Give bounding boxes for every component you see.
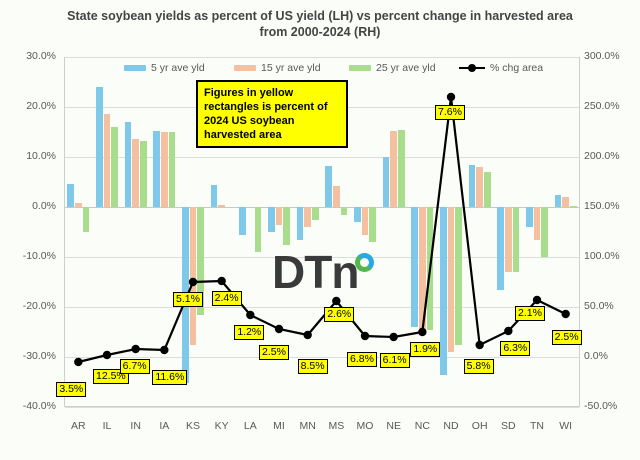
legend-swatch-icon [124, 65, 146, 71]
x-axis-tick-la: LA [236, 420, 265, 432]
bar-mn-series3 [312, 207, 319, 220]
bar-ia-series3 [169, 132, 176, 207]
y-axis-left-tick: 20.0% [0, 100, 56, 112]
bar-mi-series2 [276, 207, 283, 225]
bar-oh-series2 [476, 167, 483, 207]
bar-ia-series2 [161, 132, 168, 207]
bar-wi-series1 [555, 195, 562, 208]
bar-wi-series2 [562, 197, 569, 207]
data-label-wi: 2.5% [552, 330, 582, 345]
x-axis-tick-nd: ND [437, 420, 466, 432]
bar-ne-series2 [390, 131, 397, 207]
legend-line-marker-icon [459, 63, 485, 73]
data-label-nc: 1.9% [410, 342, 440, 357]
x-axis-tick-ia: IA [150, 420, 179, 432]
data-label-mn: 8.5% [298, 359, 328, 374]
bar-nc-series2 [419, 207, 426, 335]
data-label-la: 1.2% [234, 325, 264, 340]
y-axis-right-tick: 200.0% [584, 150, 640, 162]
bar-tn-series2 [534, 207, 541, 240]
legend-item-4[interactable]: % chg area [459, 62, 543, 74]
bar-mi-series1 [268, 207, 275, 232]
data-label-ms: 2.6% [324, 307, 354, 322]
y-axis-right-tick: 100.0% [584, 250, 640, 262]
data-label-ky: 2.4% [212, 291, 242, 306]
bar-ks-series2 [190, 207, 197, 345]
chart-legend: 5 yr ave yld15 yr ave yld25 yr ave yld% … [64, 58, 580, 80]
bar-ne-series3 [398, 130, 405, 208]
data-label-in: 6.7% [120, 359, 150, 374]
bar-il-series3 [111, 127, 118, 207]
bar-in-series3 [140, 141, 147, 207]
data-label-mo: 6.8% [347, 352, 377, 367]
bar-mn-series1 [297, 207, 304, 240]
bar-nd-series2 [448, 207, 455, 352]
bar-nc-series1 [411, 207, 418, 327]
bar-nc-series3 [427, 207, 434, 330]
chart-container: State soybean yields as percent of US yi… [0, 0, 640, 460]
gridline [65, 357, 579, 358]
gridline [65, 407, 579, 408]
data-label-ks: 5.1% [173, 292, 203, 307]
x-axis-tick-ks: KS [179, 420, 208, 432]
data-label-sd: 6.3% [500, 341, 530, 356]
bar-il-series2 [104, 114, 111, 208]
gridline [65, 307, 579, 308]
legend-item-2[interactable]: 15 yr ave yld [234, 62, 321, 74]
bar-ia-series1 [153, 131, 160, 207]
data-label-mi: 2.5% [259, 345, 289, 360]
legend-item-1[interactable]: 5 yr ave yld [124, 62, 205, 74]
x-axis-tick-il: IL [93, 420, 122, 432]
y-axis-left-tick: -10.0% [0, 250, 56, 262]
legend-dot [468, 64, 476, 72]
x-axis-tick-ne: NE [379, 420, 408, 432]
bar-ar-series2 [75, 203, 82, 208]
bar-nd-series1 [440, 207, 447, 375]
x-axis-tick-ky: KY [207, 420, 236, 432]
legend-swatch-icon [349, 65, 371, 71]
bar-oh-series1 [469, 165, 476, 208]
legend-label: 25 yr ave yld [376, 62, 436, 74]
y-axis-right-tick: 150.0% [584, 200, 640, 212]
bar-mo-series3 [369, 207, 376, 242]
legend-label: 15 yr ave yld [261, 62, 321, 74]
bar-ar-series1 [67, 184, 74, 208]
x-axis-tick-oh: OH [465, 420, 494, 432]
data-label-ne: 6.1% [380, 353, 410, 368]
bar-la-series3 [255, 207, 262, 252]
y-axis-right-tick: 300.0% [584, 50, 640, 62]
bar-ms-series3 [341, 207, 348, 215]
legend-label: % chg area [490, 62, 543, 74]
x-axis-tick-mo: MO [351, 420, 380, 432]
bar-ms-series1 [325, 166, 332, 208]
y-axis-left-tick: 30.0% [0, 50, 56, 62]
data-label-ia: 11.6% [152, 370, 187, 385]
chart-title: State soybean yields as percent of US yi… [60, 8, 580, 40]
y-axis-right-tick: 250.0% [584, 100, 640, 112]
data-label-oh: 5.8% [464, 359, 494, 374]
bar-mn-series2 [304, 207, 311, 227]
bar-in-series2 [132, 139, 139, 208]
y-axis-right-tick: 0.0% [584, 350, 640, 362]
y-axis-left-tick: -20.0% [0, 300, 56, 312]
x-axis-tick-mn: MN [293, 420, 322, 432]
bar-la-series1 [239, 207, 246, 235]
x-axis-tick-wi: WI [551, 420, 580, 432]
bar-sd-series2 [505, 207, 512, 272]
bar-tn-series1 [526, 207, 533, 227]
legend-swatch-icon [234, 65, 256, 71]
x-axis-tick-mi: MI [265, 420, 294, 432]
y-axis-left-tick: 0.0% [0, 200, 56, 212]
bar-nd-series3 [455, 207, 462, 345]
x-axis-tick-tn: TN [523, 420, 552, 432]
y-axis-left-tick: 10.0% [0, 150, 56, 162]
bar-tn-series3 [541, 207, 548, 257]
x-axis-tick-nc: NC [408, 420, 437, 432]
bar-mi-series3 [283, 207, 290, 245]
callout-note: Figures in yellow rectangles is percent … [196, 80, 348, 148]
legend-item-3[interactable]: 25 yr ave yld [349, 62, 436, 74]
legend-label: 5 yr ave yld [151, 62, 205, 74]
y-axis-right-tick: 50.0% [584, 300, 640, 312]
bar-mo-series1 [354, 207, 361, 222]
x-axis-tick-sd: SD [494, 420, 523, 432]
bar-ne-series1 [383, 157, 390, 207]
dtn-logo-ring-icon [355, 253, 374, 272]
data-label-nd: 7.6% [435, 105, 465, 120]
bar-ms-series2 [333, 186, 340, 208]
data-label-tn: 2.1% [515, 306, 545, 321]
bar-il-series1 [96, 87, 103, 207]
y-axis-right-tick: -50.0% [584, 400, 640, 412]
y-axis-left-tick: -40.0% [0, 400, 56, 412]
bar-oh-series3 [484, 172, 491, 207]
x-axis-tick-ar: AR [64, 420, 93, 432]
bar-sd-series3 [513, 207, 520, 272]
y-axis-left-tick: -30.0% [0, 350, 56, 362]
x-axis-tick-in: IN [121, 420, 150, 432]
bar-sd-series1 [497, 207, 504, 290]
bar-in-series1 [125, 122, 132, 207]
x-axis-tick-ms: MS [322, 420, 351, 432]
bar-ky-series1 [211, 185, 218, 208]
data-label-ar: 3.5% [56, 382, 86, 397]
bar-ar-series3 [83, 207, 90, 232]
bar-ky-series2 [218, 205, 225, 208]
bar-mo-series2 [362, 207, 369, 235]
bar-wi-series3 [570, 206, 577, 208]
